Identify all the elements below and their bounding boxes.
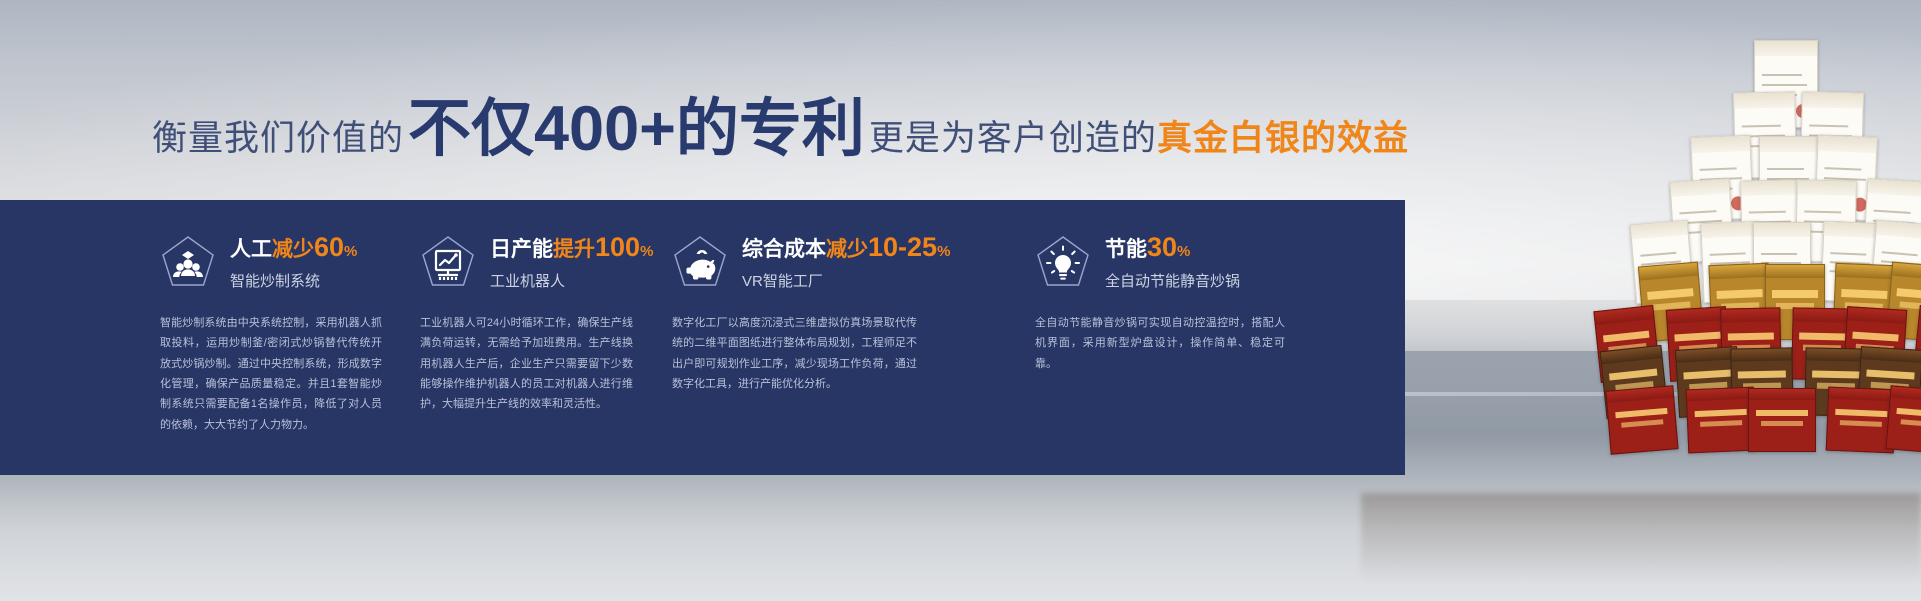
feature-title-number: 100: [595, 232, 640, 262]
certificate-reflection: [1361, 493, 1921, 583]
feature-subtitle: 智能炒制系统: [230, 270, 357, 291]
feature-header: 人工减少60%智能炒制系统: [160, 232, 382, 291]
feature-subtitle: VR智能工厂: [742, 270, 950, 291]
feature-text: 节能30%全自动节能静音炒锅: [1105, 232, 1240, 291]
feature-description: 智能炒制系统由中央系统控制，采用机器人抓取投料，运用炒制釜/密闭式炒锅替代传统开…: [160, 313, 382, 435]
people-group-icon: [160, 234, 216, 290]
feature-title: 日产能提升100%: [490, 232, 653, 263]
feature-title: 综合成本减少10-25%: [742, 232, 950, 263]
feature-title-prefix: 人工: [230, 238, 272, 261]
chart-board-icon: [420, 234, 476, 290]
certificate: [1748, 388, 1816, 452]
feature-description: 工业机器人可24小时循环工作，确保生产线满负荷运转，无需给予加班费用。生产线换用…: [420, 313, 633, 415]
feature-title-number: 30: [1147, 232, 1177, 262]
feature-item-1: 人工减少60%智能炒制系统智能炒制系统由中央系统控制，采用机器人抓取投料，运用炒…: [160, 232, 382, 435]
feature-panel: 人工减少60%智能炒制系统智能炒制系统由中央系统控制，采用机器人抓取投料，运用炒…: [0, 200, 1405, 475]
feature-list: 人工减少60%智能炒制系统智能炒制系统由中央系统控制，采用机器人抓取投料，运用炒…: [0, 200, 1405, 475]
banner-stage: 衡量我们价值的 不仅400+的专利 更是为客户创造的 真金白银的效益 人工减少6…: [0, 0, 1921, 601]
feature-title: 人工减少60%: [230, 232, 357, 263]
feature-title-unit: %: [937, 243, 950, 260]
feature-title: 节能30%: [1105, 232, 1240, 263]
feature-header: 节能30%全自动节能静音炒锅: [1035, 232, 1285, 291]
feature-text: 人工减少60%智能炒制系统: [230, 232, 357, 291]
page-title: 衡量我们价值的 不仅400+的专利 更是为客户创造的 真金白银的效益: [152, 78, 1409, 169]
feature-title-prefix: 节能: [1105, 238, 1147, 261]
feature-subtitle: 工业机器人: [490, 270, 653, 291]
feature-title-unit: %: [640, 243, 653, 260]
feature-header: 综合成本减少10-25%VR智能工厂: [672, 232, 950, 291]
feature-title-highlight: 减少: [826, 238, 868, 261]
feature-description: 全自动节能静音炒锅可实现自动控温控时，搭配人机界面，采用新型炉盘设计，操作简单、…: [1035, 313, 1285, 374]
feature-title-highlight: 减少: [272, 238, 314, 261]
feature-header: 日产能提升100%工业机器人: [420, 232, 653, 291]
feature-text: 综合成本减少10-25%VR智能工厂: [742, 232, 950, 291]
certificate-wall: [1361, 40, 1921, 540]
certificate: [1686, 387, 1757, 454]
headline-lead: 衡量我们价值的: [152, 110, 404, 161]
feature-text: 日产能提升100%工业机器人: [490, 232, 653, 291]
certificate: [1885, 385, 1921, 454]
feature-title-prefix: 综合成本: [742, 238, 826, 261]
feature-title-number: 60: [314, 232, 344, 262]
lightbulb-icon: [1035, 234, 1091, 290]
feature-title-unit: %: [1177, 243, 1190, 260]
feature-item-4: 节能30%全自动节能静音炒锅全自动节能静音炒锅可实现自动控温控时，搭配人机界面，…: [1035, 232, 1285, 374]
headline-emphasis: 不仅400+的专利: [408, 78, 865, 169]
certificate: [1605, 385, 1678, 454]
headline-mid: 更是为客户创造的: [869, 110, 1157, 161]
feature-title-unit: %: [344, 243, 357, 260]
headline-highlight: 真金白银的效益: [1157, 110, 1409, 161]
feature-title-number: 10-25: [868, 232, 937, 262]
feature-subtitle: 全自动节能静音炒锅: [1105, 270, 1240, 291]
piggy-bank-icon: [672, 234, 728, 290]
feature-item-2: 日产能提升100%工业机器人工业机器人可24小时循环工作，确保生产线满负荷运转，…: [420, 232, 653, 415]
feature-title-highlight: 提升: [553, 238, 595, 261]
feature-title-prefix: 日产能: [490, 238, 553, 261]
feature-item-3: 综合成本减少10-25%VR智能工厂数字化工厂以高度沉浸式三维虚拟仿真场景取代传…: [672, 232, 950, 394]
feature-description: 数字化工厂以高度沉浸式三维虚拟仿真场景取代传统的二维平面图纸进行整体布局规划，工…: [672, 313, 917, 394]
